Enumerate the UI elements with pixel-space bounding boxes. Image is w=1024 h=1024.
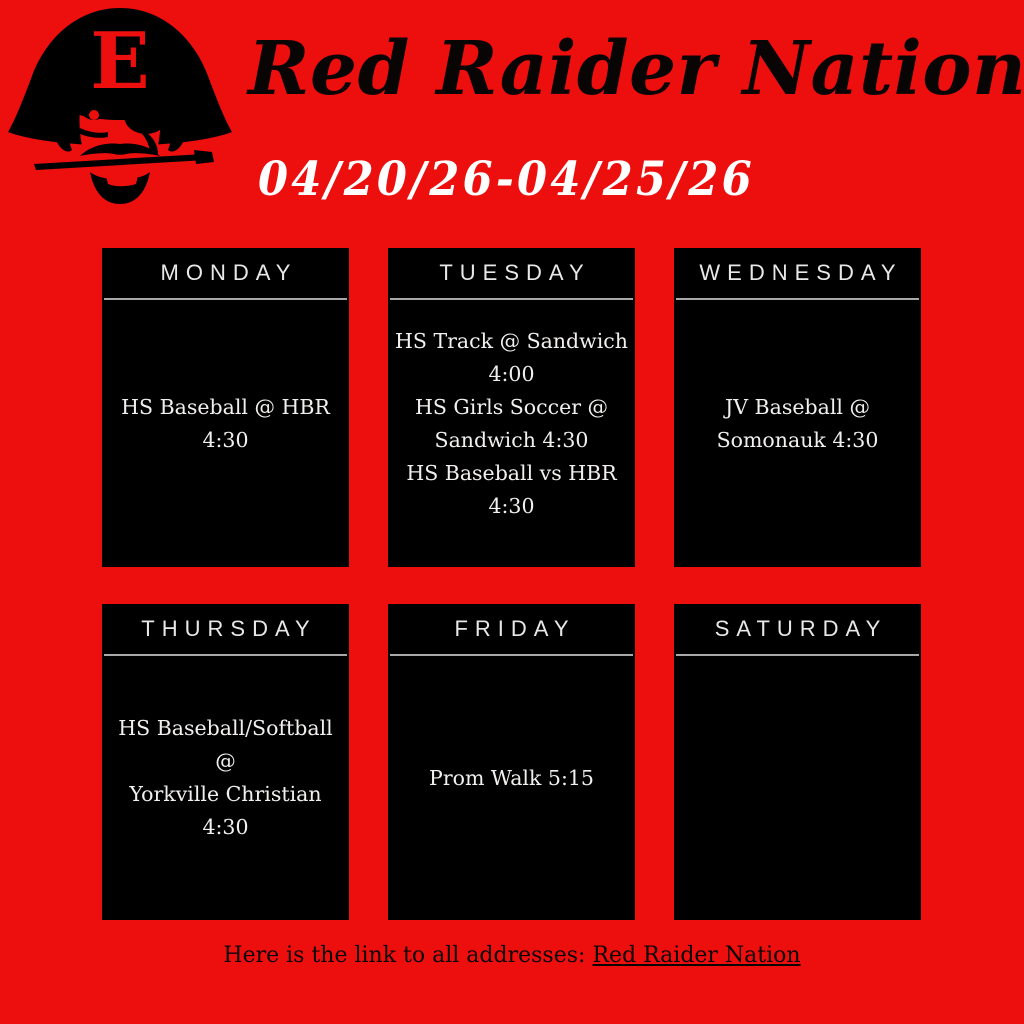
- page-header: E Red Raider Nation 04/20/26-04/: [0, 0, 1024, 232]
- week-schedule-grid: MONDAY HS Baseball @ HBR 4:30 TUESDAY HS…: [102, 248, 922, 920]
- day-card-friday[interactable]: FRIDAY Prom Walk 5:15: [388, 604, 635, 920]
- event-list-friday: Prom Walk 5:15: [394, 762, 629, 795]
- day-card-saturday[interactable]: SATURDAY: [674, 604, 921, 920]
- event-line: 4:30: [108, 811, 343, 844]
- day-body-tuesday: HS Track @ Sandwich 4:00 HS Girls Soccer…: [388, 300, 635, 567]
- red-raider-nation-link[interactable]: Red Raider Nation: [592, 943, 800, 968]
- day-body-monday: HS Baseball @ HBR 4:30: [102, 300, 349, 567]
- page-title: Red Raider Nation: [248, 16, 948, 122]
- event-line: JV Baseball @: [680, 391, 915, 424]
- day-card-monday[interactable]: MONDAY HS Baseball @ HBR 4:30: [102, 248, 349, 567]
- day-body-saturday: [674, 656, 921, 920]
- event-line: 4:30: [108, 424, 343, 457]
- day-header-wednesday: WEDNESDAY: [674, 248, 921, 298]
- svg-text:E: E: [90, 16, 149, 107]
- footer-text: Here is the link to all addresses:: [223, 943, 585, 968]
- day-header-saturday: SATURDAY: [674, 604, 921, 654]
- event-line: Sandwich 4:30: [394, 424, 629, 457]
- day-header-thursday: THURSDAY: [102, 604, 349, 654]
- day-header-monday: MONDAY: [102, 248, 349, 298]
- event-line: 4:30: [394, 490, 629, 523]
- footer: Here is the link to all addresses: Red R…: [0, 932, 1024, 978]
- event-list-monday: HS Baseball @ HBR 4:30: [108, 391, 343, 457]
- event-line: Somonauk 4:30: [680, 424, 915, 457]
- day-body-thursday: HS Baseball/Softball @ Yorkville Christi…: [102, 656, 349, 920]
- day-body-friday: Prom Walk 5:15: [388, 656, 635, 920]
- event-line: HS Girls Soccer @: [394, 391, 629, 424]
- event-line: Prom Walk 5:15: [394, 762, 629, 795]
- event-line: HS Baseball/Softball @: [108, 712, 343, 778]
- red-raider-pirate-mascot-logo: E: [6, 4, 234, 216]
- event-list-wednesday: JV Baseball @ Somonauk 4:30: [680, 391, 915, 457]
- event-line: HS Baseball vs HBR: [394, 457, 629, 490]
- day-card-wednesday[interactable]: WEDNESDAY JV Baseball @ Somonauk 4:30: [674, 248, 921, 567]
- day-header-tuesday: TUESDAY: [388, 248, 635, 298]
- event-list-thursday: HS Baseball/Softball @ Yorkville Christi…: [108, 712, 343, 844]
- day-card-tuesday[interactable]: TUESDAY HS Track @ Sandwich 4:00 HS Girl…: [388, 248, 635, 567]
- event-line: 4:00: [394, 358, 629, 391]
- event-line: HS Track @ Sandwich: [394, 325, 629, 358]
- date-range: 04/20/26-04/25/26: [258, 150, 902, 210]
- event-line: HS Baseball @ HBR: [108, 391, 343, 424]
- day-card-thursday[interactable]: THURSDAY HS Baseball/Softball @ Yorkvill…: [102, 604, 349, 920]
- event-line: Yorkville Christian: [108, 778, 343, 811]
- event-list-tuesday: HS Track @ Sandwich 4:00 HS Girls Soccer…: [394, 325, 629, 523]
- day-header-friday: FRIDAY: [388, 604, 635, 654]
- day-body-wednesday: JV Baseball @ Somonauk 4:30: [674, 300, 921, 567]
